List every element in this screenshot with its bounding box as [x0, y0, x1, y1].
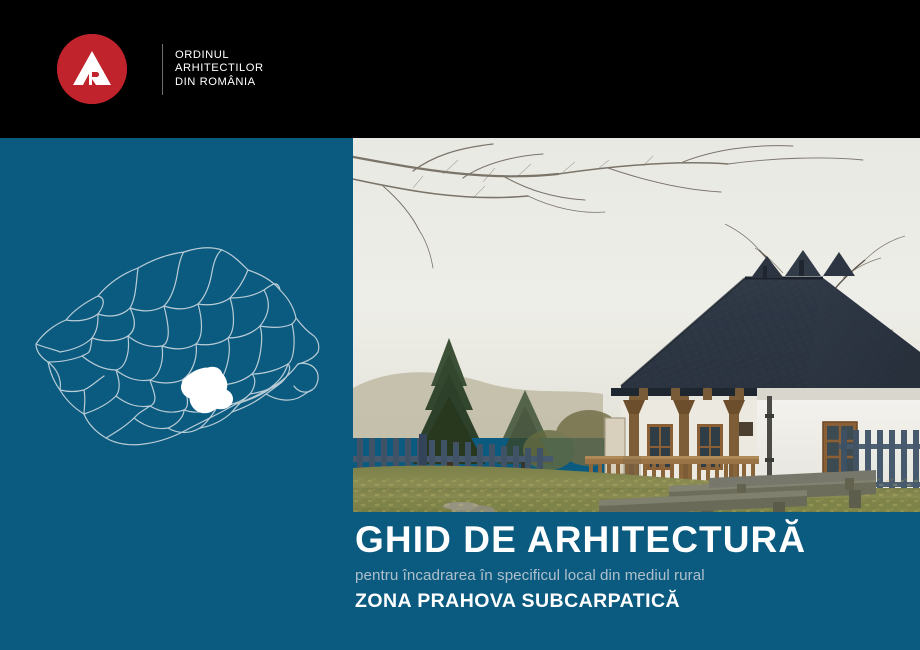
oar-monogram-icon	[57, 34, 127, 104]
rural-house-photo	[353, 138, 920, 512]
page-subtitle: pentru încadrarea în specificul local di…	[355, 564, 915, 587]
page-title: GHID DE ARHITECTURĂ	[355, 518, 915, 562]
org-name-line-1: ORDINUL	[175, 49, 264, 63]
organization-logo-lockup: ORDINUL ARHITECTILOR DIN ROMÂNIA	[57, 34, 264, 104]
org-name-line-2: ARHITECTILOR	[175, 62, 264, 76]
org-name-line-3: DIN ROMÂNIA	[175, 76, 264, 90]
header-band: ORDINUL ARHITECTILOR DIN ROMÂNIA	[0, 0, 920, 138]
logo-divider	[162, 44, 163, 95]
cover-page: GHID DE ARHITECTURĂ pentru încadrarea în…	[0, 0, 920, 650]
cover-title-block: GHID DE ARHITECTURĂ pentru încadrarea în…	[355, 518, 915, 614]
organization-name: ORDINUL ARHITECTILOR DIN ROMÂNIA	[175, 49, 264, 90]
romania-map-icon	[26, 240, 322, 466]
page-zone-label: ZONA PRAHOVA SUBCARPATICĂ	[355, 588, 915, 614]
